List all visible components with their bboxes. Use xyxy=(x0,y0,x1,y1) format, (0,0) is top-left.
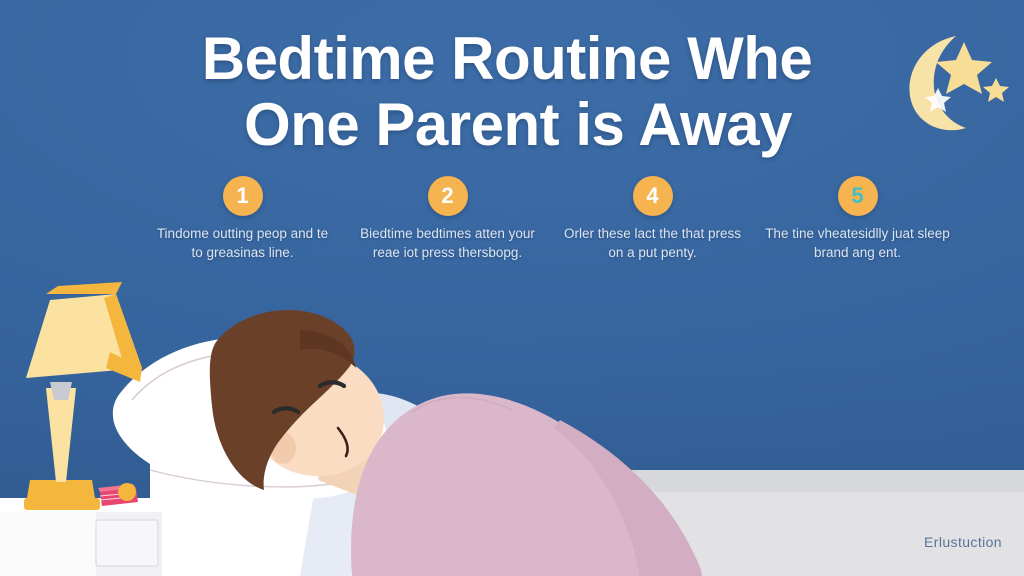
steps-row: 1 Tindome outting peop and te to greasin… xyxy=(150,176,950,262)
step-text-5: The tine vheatesidlly juat sleep brand a… xyxy=(765,224,950,262)
step-item-3: 4 Orler these lact the that press on a p… xyxy=(560,176,745,262)
step-item-4: 5 The tine vheatesidlly juat sleep brand… xyxy=(765,176,950,262)
drawer-knob-icon xyxy=(118,483,136,501)
step-text-1: Tindome outting peop and te to greasinas… xyxy=(150,224,335,262)
title-line-1: Bedtime Routine Whe xyxy=(0,26,1024,92)
step-text-4: Orler these lact the that press on a put… xyxy=(560,224,745,262)
step-item-1: 1 Tindome outting peop and te to greasin… xyxy=(150,176,335,262)
title-block: Bedtime Routine Whe One Parent is Away xyxy=(0,26,1024,158)
step-text-2: Biedtime bedtimes atten your reae iot pr… xyxy=(355,224,540,262)
step-badge-2: 2 xyxy=(428,176,468,216)
step-badge-1: 1 xyxy=(223,176,263,216)
watermark-label: Erlustuction xyxy=(924,534,1002,550)
infographic-poster: Bedtime Routine Whe One Parent is Away 1… xyxy=(0,0,1024,576)
title-line-2: One Parent is Away xyxy=(0,92,1024,158)
step-item-2: 2 Biedtime bedtimes atten your reae iot … xyxy=(355,176,540,262)
step-badge-5: 5 xyxy=(838,176,878,216)
crescent-moon-stars-icon xyxy=(892,22,1012,132)
step-badge-4: 4 xyxy=(633,176,673,216)
